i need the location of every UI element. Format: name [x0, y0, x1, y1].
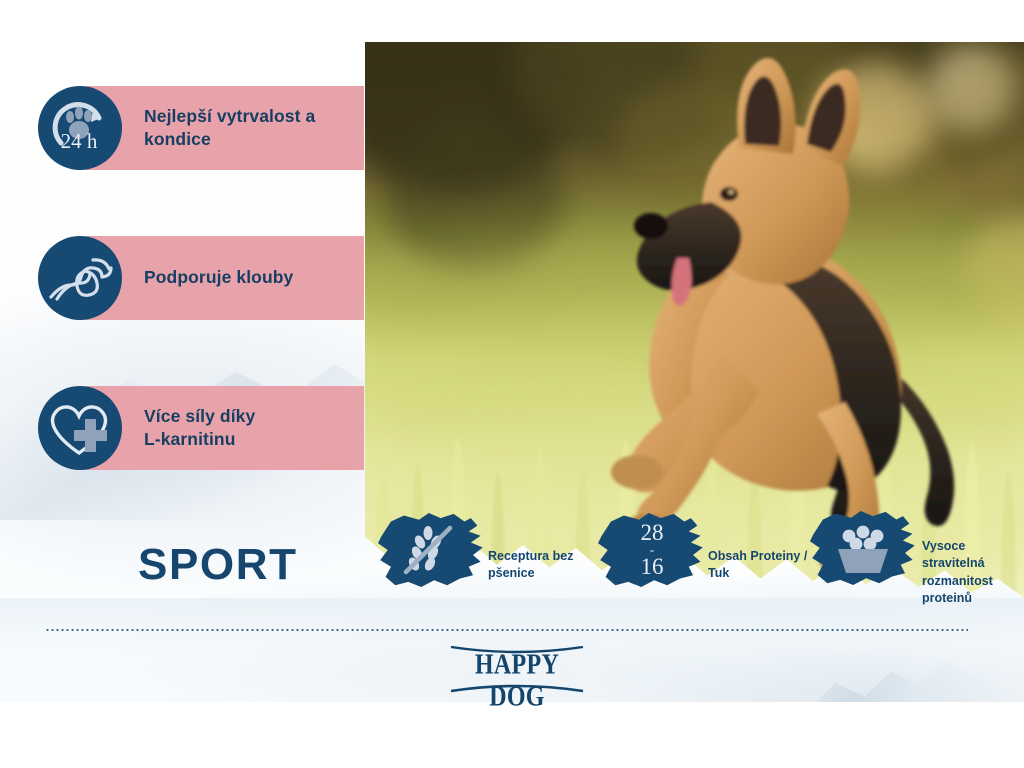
- feature-row-joints[interactable]: Podporuje klouby: [38, 236, 364, 320]
- feature-row-lcarnitine[interactable]: Více síly díky L-karnitinu: [38, 386, 364, 470]
- badge-digestible-proteins[interactable]: Vysoce stravitelná rozmanitost proteinů: [810, 506, 1024, 606]
- feature-label: Více síly díky L-karnitinu: [144, 405, 255, 451]
- svg-text:24 h: 24 h: [61, 129, 98, 153]
- badge-label: Receptura bez pšenice: [488, 548, 573, 583]
- product-line-title: SPORT: [138, 540, 298, 590]
- dotted-divider: [45, 629, 968, 631]
- clock-paw-24h-icon: 24 h: [38, 86, 122, 170]
- ratio-fat-value: 16: [641, 556, 664, 578]
- german-shepherd-illustration: [515, 52, 985, 572]
- happy-dog-logo[interactable]: HAPPY DOG: [447, 646, 587, 692]
- protein-fat-ratio-icon: 28 - 16: [598, 508, 706, 592]
- ratio-protein-value: 28: [641, 522, 664, 544]
- badge-no-wheat[interactable]: Receptura bez pšenice: [378, 508, 578, 608]
- promo-banner: 24 h Nejlepší vytrvalost a kondice Podpo…: [0, 0, 1024, 768]
- feature-label: Nejlepší vytrvalost a kondice: [144, 105, 315, 151]
- feature-row-endurance[interactable]: 24 h Nejlepší vytrvalost a kondice: [38, 86, 364, 170]
- feature-label: Podporuje klouby: [144, 266, 293, 289]
- badge-label: Obsah Proteiny / Tuk: [708, 548, 807, 583]
- badge-label: Vysoce stravitelná rozmanitost proteinů: [922, 538, 1024, 607]
- wheat-crossed-out-icon: [400, 524, 458, 578]
- joint-bone-icon: [38, 236, 122, 320]
- food-bowl-icon: [832, 522, 894, 576]
- logo-bottom-arc: [447, 681, 587, 693]
- heart-plus-icon: [38, 386, 122, 470]
- badge-protein-fat-ratio[interactable]: 28 - 16 Obsah Proteiny / Tuk: [598, 508, 808, 608]
